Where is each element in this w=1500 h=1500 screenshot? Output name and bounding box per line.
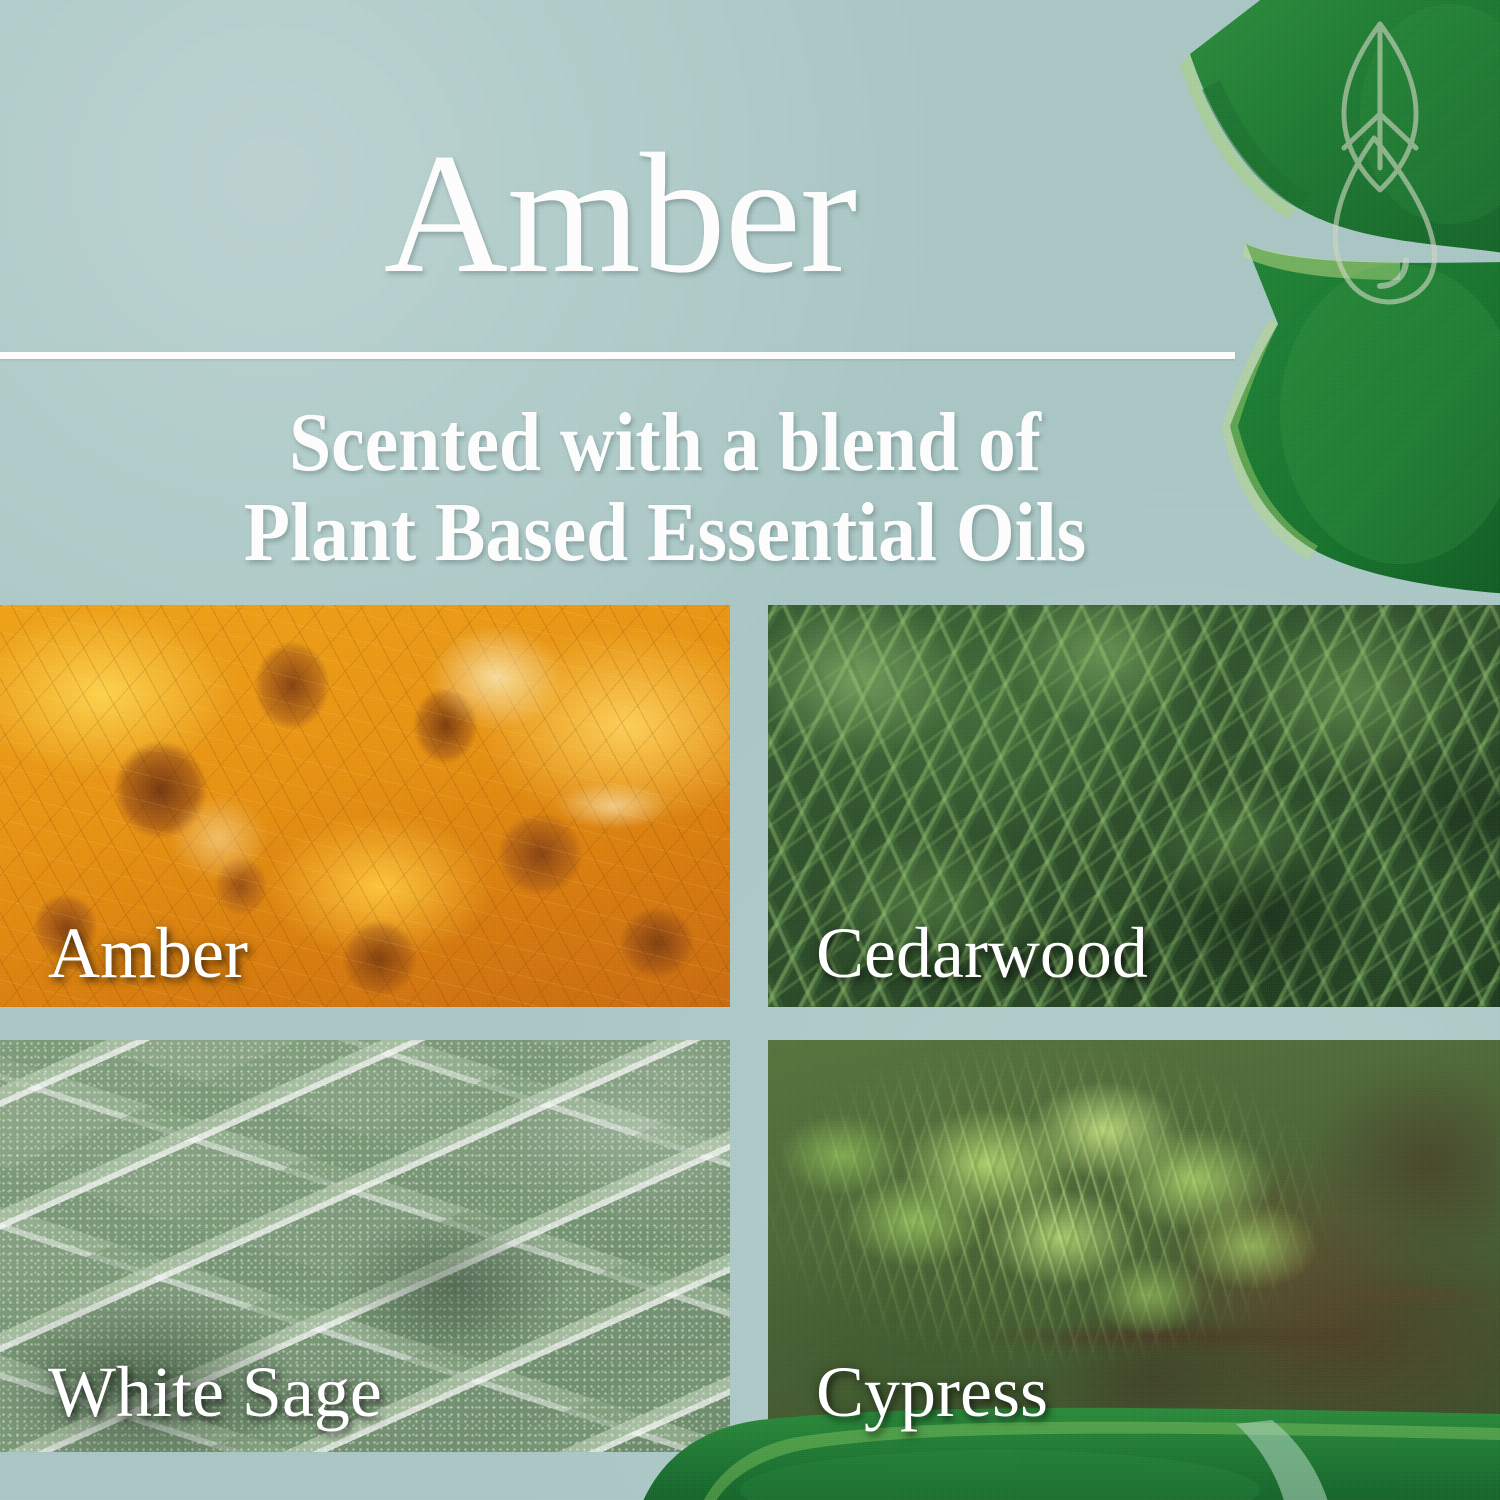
ingredient-label-cedarwood: Cedarwood [816, 917, 1148, 989]
ingredient-label-white-sage: White Sage [48, 1356, 382, 1428]
leaf-droplet-logo [1310, 18, 1450, 318]
title-divider [0, 352, 1235, 359]
ingredient-tile-cedarwood: Cedarwood [768, 605, 1500, 1007]
tagline-line-1: Scented with a blend of [67, 398, 1264, 488]
ingredient-label-amber: Amber [48, 917, 248, 989]
product-infographic: Amber Scented with a blend of Plant Base… [0, 0, 1500, 1500]
ingredient-tile-amber: Amber [0, 605, 730, 1007]
product-tagline: Scented with a blend of Plant Based Esse… [67, 398, 1264, 578]
page-title: Amber [0, 128, 1240, 300]
ingredient-label-cypress: Cypress [816, 1356, 1048, 1428]
tagline-line-2: Plant Based Essential Oils [67, 488, 1264, 578]
